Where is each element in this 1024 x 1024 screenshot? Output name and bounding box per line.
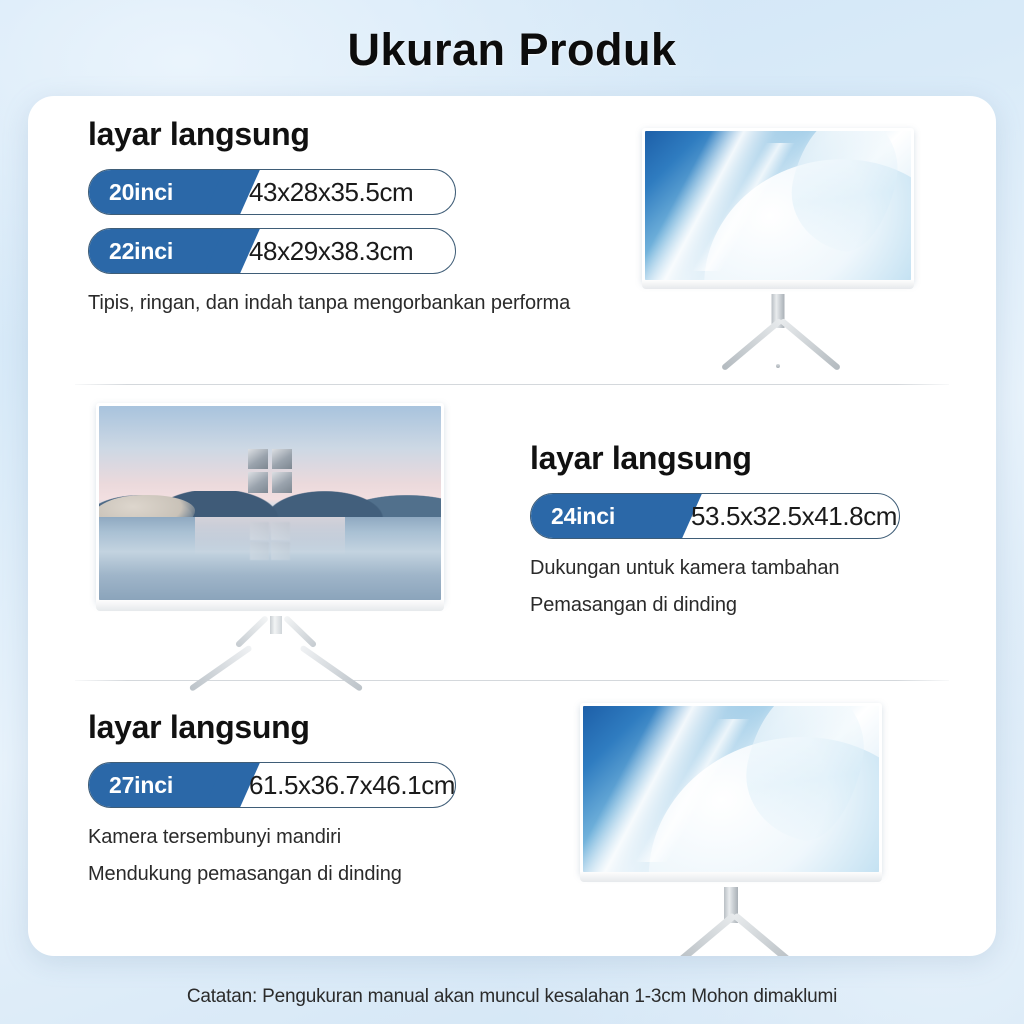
monitor-chin [96,600,444,611]
monitor-chin [580,872,882,882]
section-1-text-block: layar langsung 20inci 43x28x35.5cm 22inc… [88,116,518,315]
footer-note: Catatan: Pengukuran manual akan muncul k… [0,986,1024,1008]
spec-badge-label: 22inci [109,238,173,265]
monitor-stand-foot [776,364,780,368]
description-line: Mendukung pemasangan di dinding [88,863,518,886]
spec-badge-24inci: 24inci [530,493,675,539]
spec-badge-20inci: 20inci [88,169,233,215]
windows-logo-pane [271,522,290,540]
monitor-stand-leg-right [732,912,799,956]
monitor-screen [642,128,914,283]
monitor-wallpaper-abstract-blue [645,131,911,280]
windows-logo-pane [248,449,268,469]
spec-badge-label: 24inci [551,503,615,530]
monitor-stand-leg-right [779,318,841,371]
section-2-text-block: layar langsung 24inci 53.5x32.5x41.8cm D… [530,440,960,617]
windows-logo-pane [271,543,290,561]
spec-dimensions-value: 48x29x38.3cm [249,236,413,267]
section-1-heading: layar langsung [88,116,518,153]
monitor-chin [642,280,914,289]
specs-card: layar langsung 20inci 43x28x35.5cm 22inc… [28,96,996,956]
spec-badge-22inci: 22inci [88,228,233,274]
monitor-neck [270,616,282,634]
spec-pill-27inci[interactable]: 27inci 61.5x36.7x46.1cm [88,762,456,808]
monitor-screen [96,403,444,603]
section-3-heading: layar langsung [88,709,518,746]
windows-logo-pane [272,449,292,469]
windows-logo-pane [250,543,269,561]
section-3-text-block: layar langsung 27inci 61.5x36.7x46.1cm K… [88,709,518,886]
spec-dimensions-value: 61.5x36.7x46.1cm [249,770,455,801]
windows-logo-reflection-icon [250,522,290,560]
spec-pill-20inci[interactable]: 20inci 43x28x35.5cm [88,169,456,215]
description-line: Pemasangan di dinding [530,594,960,617]
monitor-wallpaper-windows11 [99,406,441,600]
spec-badge-label: 20inci [109,179,173,206]
windows-logo-pane [250,522,269,540]
description-line: Tipis, ringan, dan indah tanpa mengorban… [88,292,518,315]
spec-dimensions-value: 43x28x35.5cm [249,177,413,208]
monitor-stand-leg-left [721,318,783,371]
monitor-wallpaper-abstract-blue [583,706,879,872]
windows-logo-pane [248,472,268,492]
page-title: Ukuran Produk [0,24,1024,76]
monitor-stand-leg-left [669,912,736,956]
description-line: Kamera tersembunyi mandiri [88,826,518,849]
windows-logo-pane [272,472,292,492]
section-2-heading: layar langsung [530,440,960,477]
monitor-stand-arm-left [235,615,269,648]
spec-badge-label: 27inci [109,772,173,799]
spec-dimensions-value: 53.5x32.5x41.8cm [691,501,897,532]
monitor-image-20-22-inch [628,128,928,358]
monitor-stand-arm-right [283,615,317,648]
description-line: Dukungan untuk kamera tambahan [530,557,960,580]
section-3-description-list: Kamera tersembunyi mandiri Mendukung pem… [88,826,518,886]
windows-logo-icon [248,449,292,493]
spec-section-20-22-inch: layar langsung 20inci 43x28x35.5cm 22inc… [28,96,996,384]
section-1-description-list: Tipis, ringan, dan indah tanpa mengorban… [88,292,518,315]
section-2-description-list: Dukungan untuk kamera tambahan Pemasanga… [530,557,960,617]
monitor-image-24-inch [96,403,456,673]
spec-badge-27inci: 27inci [88,762,233,808]
spec-section-27-inch: layar langsung 27inci 61.5x36.7x46.1cm K… [28,681,996,956]
spec-pill-22inci[interactable]: 22inci 48x29x38.3cm [88,228,456,274]
spec-pill-24inci[interactable]: 24inci 53.5x32.5x41.8cm [530,493,900,539]
spec-section-24-inch: layar langsung 24inci 53.5x32.5x41.8cm D… [28,385,996,680]
monitor-image-27-inch [566,703,896,953]
monitor-screen [580,703,882,875]
